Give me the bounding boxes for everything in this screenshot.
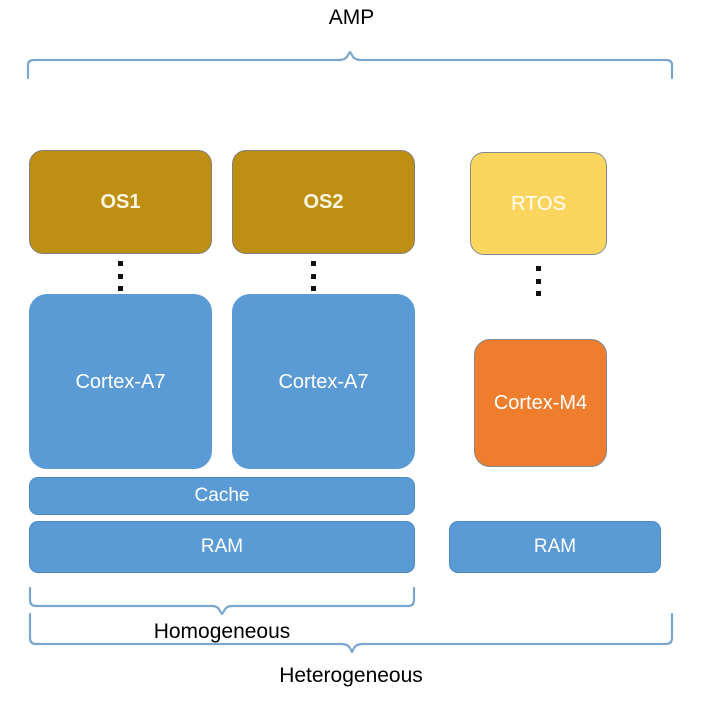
connector-dots-os2 [311,261,316,291]
amp-label: AMP [0,6,703,30]
amp-brace [26,52,674,80]
memory-box-cache[interactable]: Cache [29,477,415,515]
homogeneous-brace [28,588,416,614]
cpu-box-cortex-m4[interactable]: Cortex-M4 [474,339,607,467]
memory-box-ram-left[interactable]: RAM [29,521,415,573]
os-box-label: OS2 [303,191,343,213]
os-box-os2[interactable]: OS2 [232,150,415,254]
memory-box-ram-right[interactable]: RAM [449,521,661,573]
cpu-box-label: Cortex-M4 [494,392,587,414]
cpu-box-cortex-a7-2[interactable]: Cortex-A7 [232,294,415,469]
cpu-box-label: Cortex-A7 [278,371,368,393]
memory-box-label: RAM [534,537,576,558]
memory-box-label: Cache [195,486,250,507]
memory-box-label: RAM [201,537,243,558]
connector-dots-rtos [536,266,541,296]
cpu-box-label: Cortex-A7 [75,371,165,393]
heterogeneous-brace [28,614,674,652]
cpu-box-cortex-a7-1[interactable]: Cortex-A7 [29,294,212,469]
os-box-os1[interactable]: OS1 [29,150,212,254]
os-box-rtos[interactable]: RTOS [470,152,607,255]
os-box-label: OS1 [100,191,140,213]
os-box-label: RTOS [511,193,566,215]
connector-dots-os1 [118,261,123,291]
heterogeneous-label: Heterogeneous [28,664,674,688]
diagram-canvas: AMP OS1 OS2 Cortex-A7 Cortex-A7 Cache RA… [0,0,703,717]
